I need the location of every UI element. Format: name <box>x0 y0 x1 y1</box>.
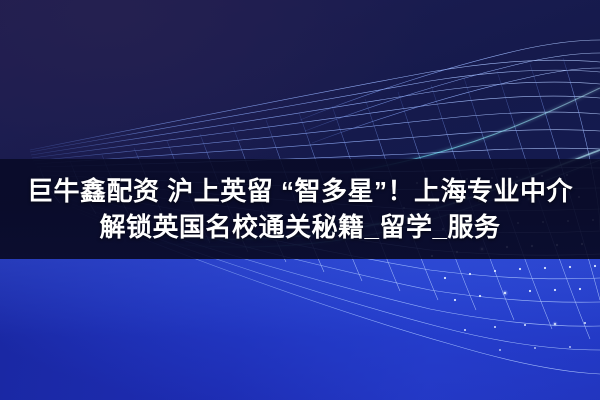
headline-overlay-band <box>0 159 600 259</box>
promo-banner: 巨牛鑫配资 沪上英留 “智多星”！上海专业中介 解锁英国名校通关秘籍_留学_服务 <box>0 0 600 400</box>
